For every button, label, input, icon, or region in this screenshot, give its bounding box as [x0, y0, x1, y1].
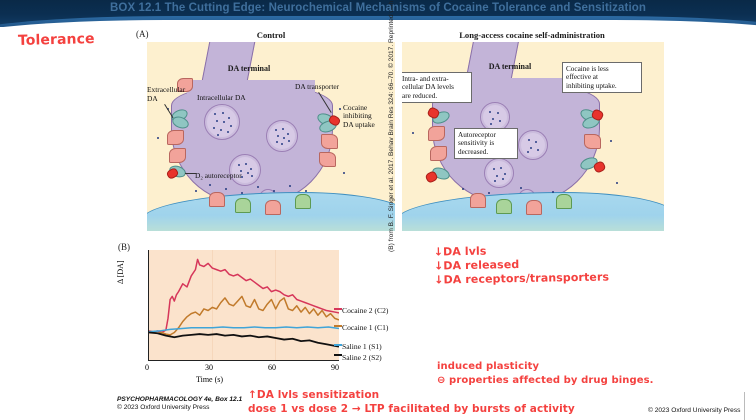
header-swoosh-white	[0, 20, 756, 27]
figure-source-citation: (B) from B. F. Singer et al. 2017. Behav…	[388, 112, 397, 252]
annotation-plasticity: induced plasticity ⊖ properties affected…	[437, 360, 654, 387]
page-title: BOX 12.1 The Cutting Edge: Neurochemical…	[0, 2, 756, 14]
panel-b-chart: (B) Δ [DA] Time (s) 0 30 60 90 Cocaine 2…	[118, 240, 418, 388]
chart-plot-area	[148, 250, 339, 361]
postsynaptic-d2-receptor-icon	[556, 194, 572, 209]
chart-x-tick: 60	[268, 363, 276, 372]
panel-a-diagram: (A) Control Long-access cocaine self-adm…	[136, 28, 664, 231]
vesicle	[204, 104, 240, 140]
vesicle	[518, 130, 548, 160]
footer-copyright-left: © 2023 Oxford University Press	[117, 404, 242, 412]
chart-y-axis-label: Δ [DA]	[116, 260, 125, 284]
chart-legend-saline-2: Saline 2 (S2)	[342, 353, 382, 362]
chart-legend-swatch	[334, 325, 342, 327]
callout-da-levels-reduced: Intra- and extra- cellular DA levels are…	[402, 72, 472, 103]
chart-legend-saline-1: Saline 1 (S1)	[342, 342, 382, 351]
annotation-line: ⊖ properties affected by drug binges.	[437, 374, 654, 388]
postsynaptic-d1-receptor-icon	[470, 193, 486, 208]
slide-edge-divider	[744, 392, 745, 420]
annotation-line: ↓DA receptors/transporters	[434, 270, 609, 287]
postsynaptic-d1-receptor-icon	[209, 192, 225, 207]
chart-legend-cocaine-2: Cocaine 2 (C2)	[342, 306, 388, 315]
chart-series-svg	[149, 250, 339, 360]
panel-a-left-heading: Control	[196, 30, 346, 40]
chart-legend-swatch	[334, 308, 342, 310]
annotation-sensitization: ↑DA lvls sensitization dose 1 vs dose 2 …	[248, 388, 575, 416]
label-intracellular-da: Intracellular DA	[197, 94, 246, 103]
postsynaptic-d1-receptor-icon	[265, 200, 281, 215]
chart-x-tick: 30	[205, 363, 213, 372]
da-terminal-label-right: DA terminal	[460, 62, 560, 71]
postsynaptic-d2-receptor-icon	[295, 194, 311, 209]
panel-a-tag: (A)	[136, 29, 149, 39]
postsynaptic-d1-receptor-icon	[526, 200, 542, 215]
chart-line-cocaine-2-c2-	[149, 259, 339, 332]
long-access-diagram-canvas: DA terminal	[402, 42, 664, 231]
label-da-transporter: DA transporter	[295, 83, 339, 92]
chart-line-saline-1-s1-	[149, 327, 339, 332]
annotation-tolerance: Tolerance	[18, 31, 95, 49]
vesicle	[229, 154, 261, 186]
leader-line	[185, 173, 196, 174]
panel-a-right-heading: Long-access cocaine self-administration	[412, 30, 652, 40]
d2-autoreceptor-icon	[169, 148, 186, 163]
postsynaptic-d2-receptor-icon	[496, 199, 512, 214]
postsynaptic-d2-receptor-icon	[235, 198, 251, 213]
vesicle	[266, 120, 298, 152]
annotation-da-reductions: ↓DA lvls ↓DA released ↓DA receptors/tran…	[434, 242, 610, 287]
annotation-line: induced plasticity	[437, 360, 654, 374]
vesicle	[484, 158, 514, 188]
chart-line-saline-2-s2-	[149, 333, 339, 347]
callout-autoreceptor-decreased: Autoreceptor sensitivity is decreased.	[454, 128, 518, 159]
control-diagram-canvas: DA terminal	[147, 42, 395, 231]
chart-legend-cocaine-1: Cocaine 1 (C1)	[342, 323, 388, 332]
d2-autoreceptor-icon	[430, 146, 447, 161]
footer-left: PSYCHOPHARMACOLOGY 4e, Box 12.1 © 2023 O…	[117, 396, 242, 413]
d2-autoreceptor-icon	[167, 130, 184, 145]
d2-autoreceptor-icon	[584, 134, 601, 149]
d2-autoreceptor-icon	[321, 134, 338, 149]
da-terminal-label-left: DA terminal	[199, 64, 299, 73]
callout-cocaine-less-effective: Cocaine is less effective at inhibiting …	[562, 62, 642, 93]
chart-legend-swatch	[334, 344, 342, 346]
footer-copyright-right: © 2023 Oxford University Press	[648, 407, 740, 414]
label-d2-autoreceptor: D₂ autoreceptor	[195, 172, 242, 181]
d2-autoreceptor-icon	[428, 126, 445, 141]
chart-legend-swatch	[334, 354, 342, 356]
chart-x-tick: 0	[145, 363, 149, 372]
d2-autoreceptor-icon	[319, 152, 336, 167]
chart-x-axis-label: Time (s)	[196, 375, 223, 384]
chart-x-tick: 90	[331, 363, 339, 372]
annotation-line: dose 1 vs dose 2 → LTP facilitated by bu…	[248, 402, 575, 416]
annotation-line: ↑DA lvls sensitization	[248, 388, 575, 402]
panel-b-tag: (B)	[118, 242, 130, 252]
